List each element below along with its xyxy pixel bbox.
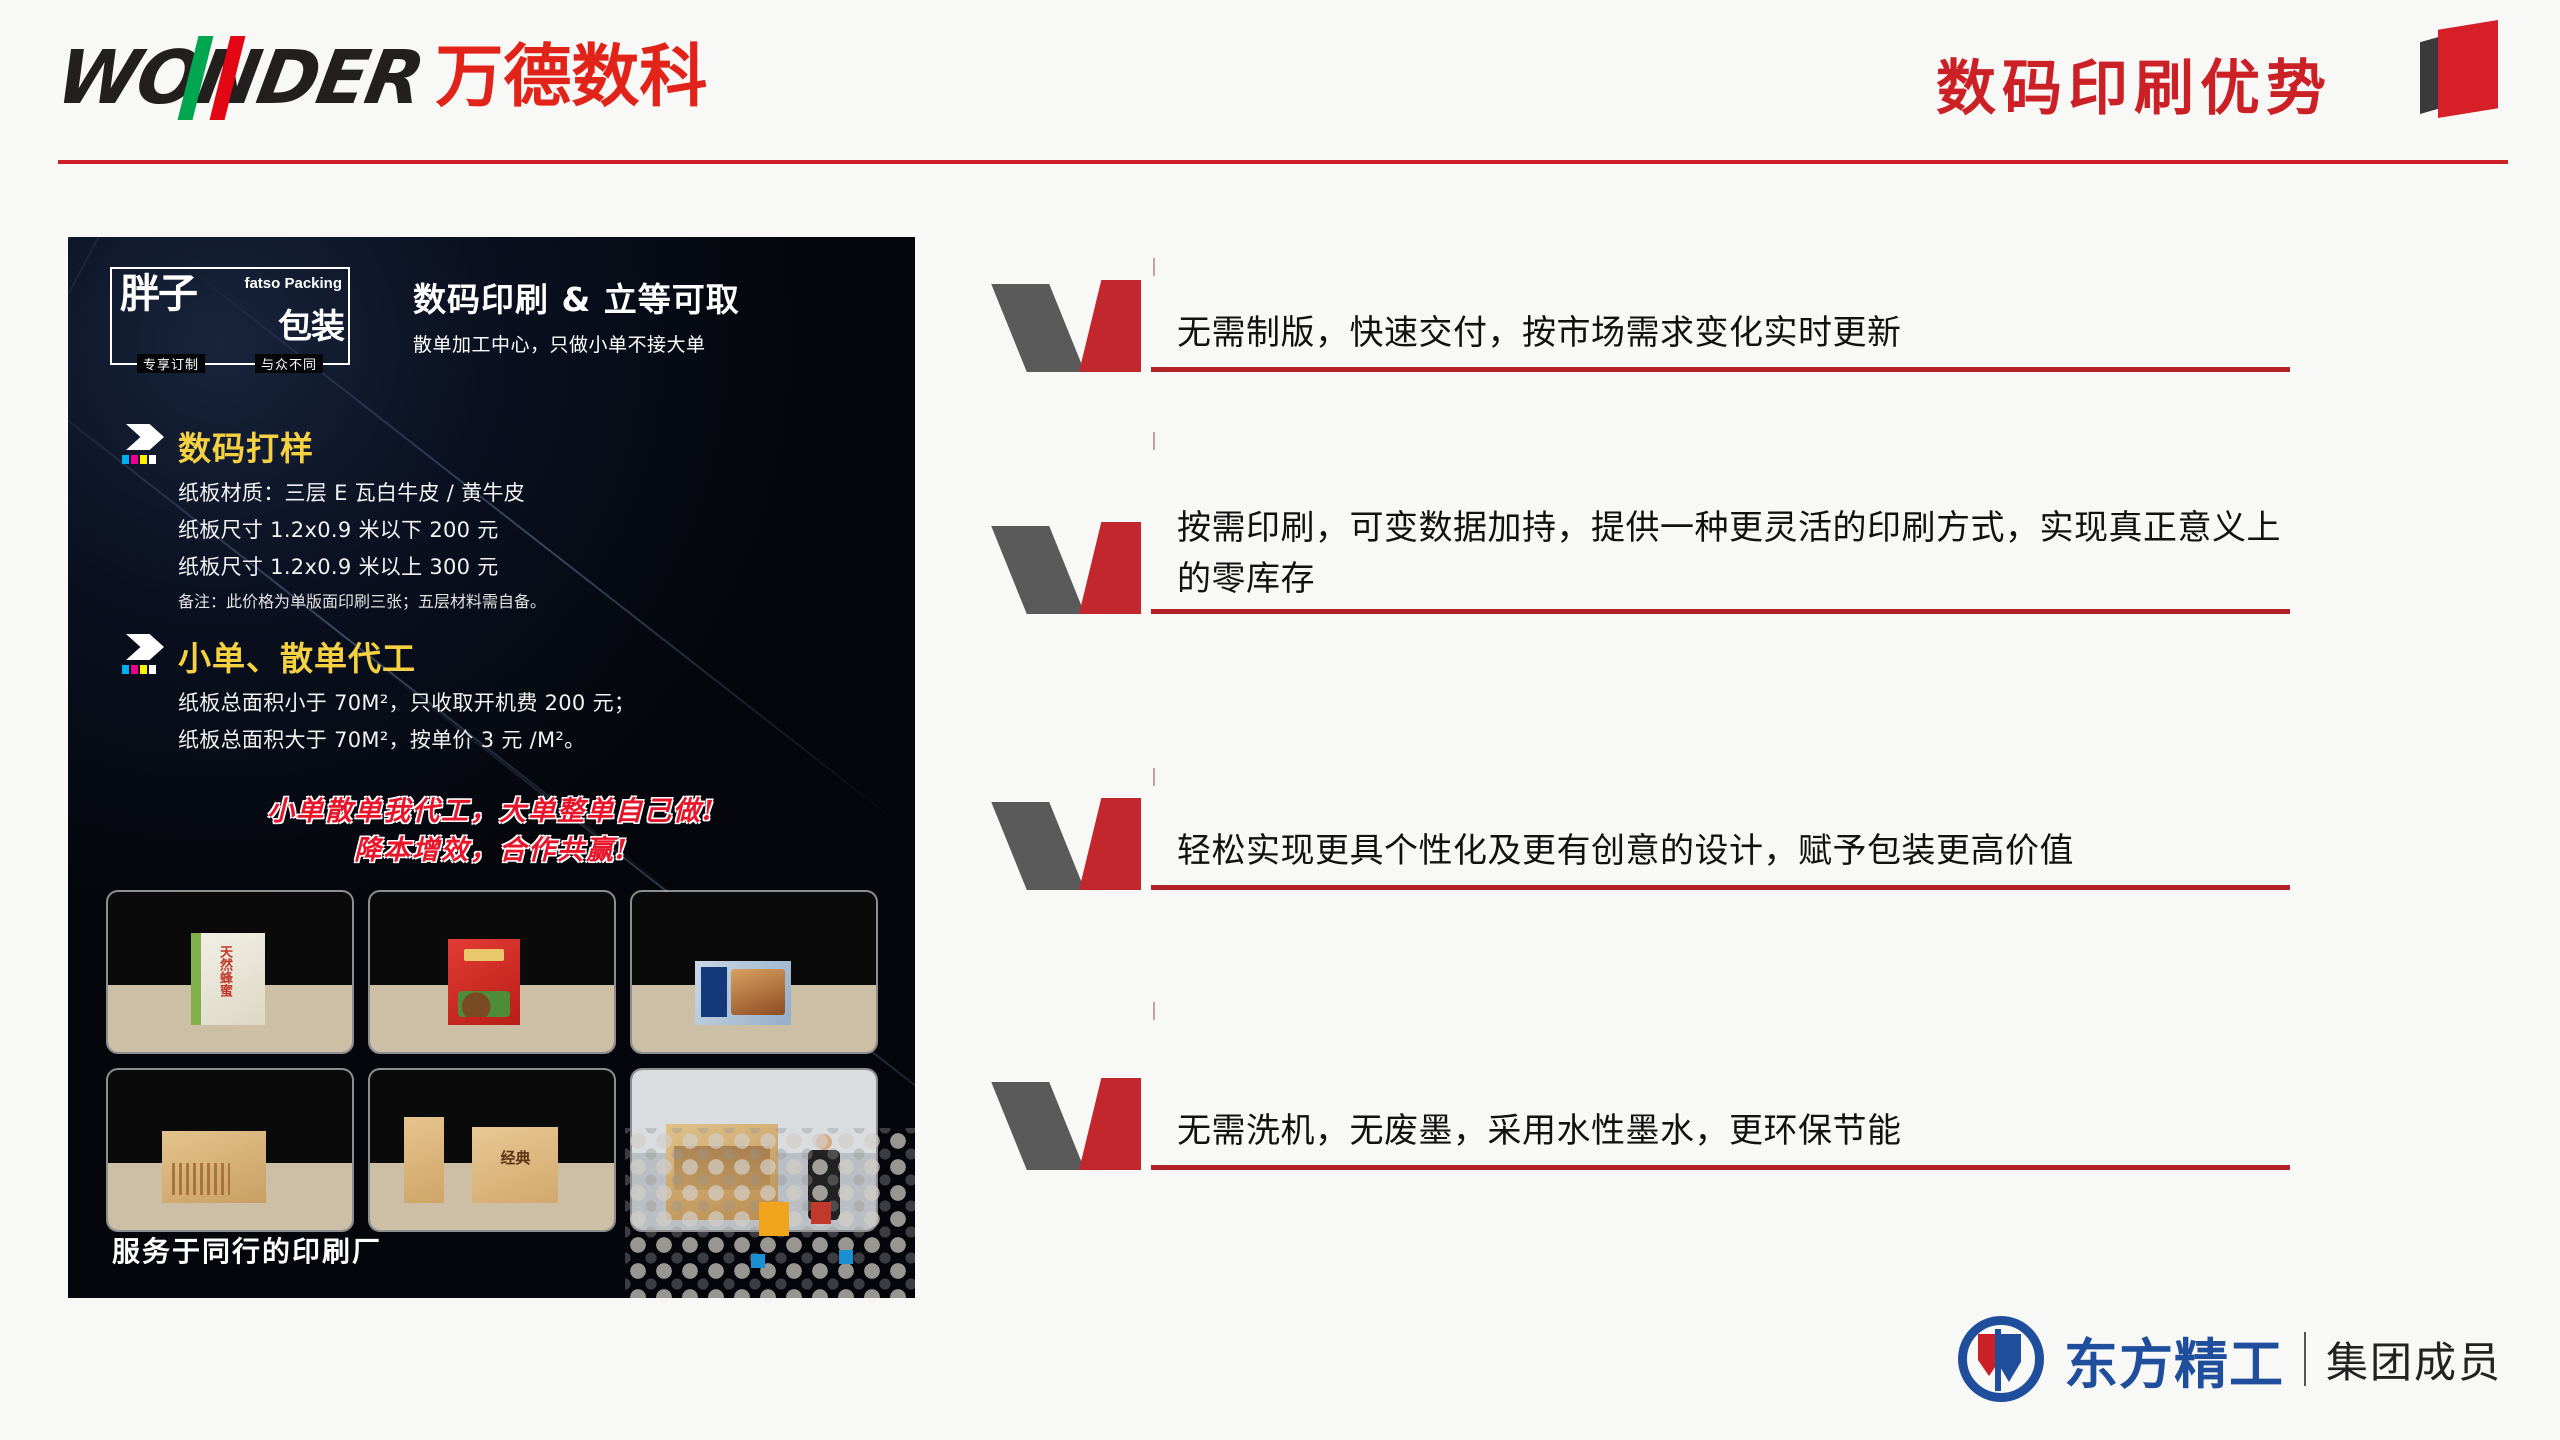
brand-separator <box>2304 1332 2306 1386</box>
bullet-underline-1 <box>1151 367 2290 372</box>
product-photo <box>108 1070 352 1230</box>
marker-gray-shape <box>991 1082 1085 1170</box>
advantage-item-3[interactable]: 轻松实现更具个性化及更有创意的设计，赋予包装更高价值 <box>1005 798 2295 890</box>
bullet-tick-4 <box>1153 1002 1155 1020</box>
cmyk-dot-cyan <box>122 455 129 464</box>
bullet-tick-1 <box>1153 258 1155 276</box>
header-divider <box>58 160 2508 164</box>
cmyk-dot-magenta <box>131 455 138 464</box>
fatso-tag-right: 与众不同 <box>255 354 323 373</box>
panel-slogan-line-2: 降本增效，合作共赢! <box>68 831 915 870</box>
book-page-shape <box>2438 20 2498 118</box>
cmyk-dot-magenta-2 <box>131 665 138 674</box>
classic-box-label: 经典 <box>500 1147 530 1168</box>
bullet-underline-4 <box>1151 1165 2290 1170</box>
marker-red-shape <box>1079 522 1141 614</box>
arrow-bullet-icon-2 <box>120 634 168 674</box>
panel-footer-text: 服务于同行的印刷厂 <box>112 1230 382 1270</box>
panel-section-2-title: 小单、散单代工 <box>178 632 635 680</box>
advantage-text-3: 轻松实现更具个性化及更有创意的设计，赋予包装更高价值 <box>1177 826 2297 876</box>
advantage-text-1: 无需制版，快速交付，按市场需求变化实时更新 <box>1177 308 2297 358</box>
cmyk-dot-white-2 <box>149 665 156 674</box>
halftone-accent-blue-1 <box>751 1254 765 1268</box>
group-brand-footer: 东方精工 集团成员 <box>1958 1316 2502 1402</box>
panel-subheadline: 散单加工中心，只做小单不接大单 <box>413 330 740 357</box>
product-photo: 天然蜂蜜 <box>108 892 352 1052</box>
bullet-marker-4 <box>1005 1078 1185 1170</box>
panel-section-1-line-3: 纸板尺寸 1.2x0.9 米以上 300 元 <box>178 551 546 581</box>
red-box-gold-label <box>464 949 504 961</box>
fatso-packing-logo: 胖子 fatso Packing 包装 专享订制 与众不同 <box>110 267 350 365</box>
blue-box-food-photo <box>731 969 785 1015</box>
marker-gray-shape <box>991 526 1085 614</box>
kraft-handle-box <box>162 1131 266 1203</box>
advantage-item-1[interactable]: 无需制版，快速交付，按市场需求变化实时更新 <box>1005 280 2295 372</box>
company-logo: WONDER 万德数科 <box>58 38 707 118</box>
product-photo: 经典 <box>370 1070 614 1230</box>
cmyk-dot-yellow <box>140 455 147 464</box>
halftone-accent-red <box>811 1202 831 1224</box>
logo-wordmark-cn: 万德数科 <box>435 44 707 112</box>
panel-section-2: 小单、散单代工 纸板总面积小于 70M²，只收取开机费 200 元； 纸板总面积… <box>178 632 635 754</box>
halftone-accent-orange <box>759 1202 789 1236</box>
arrow-bullet-icon <box>120 424 168 464</box>
product-photo <box>632 892 876 1052</box>
marker-red-shape <box>1079 280 1141 372</box>
advantage-text-4: 无需洗机，无废墨，采用水性墨水，更环保节能 <box>1177 1106 2297 1156</box>
panel-section-1-line-2: 纸板尺寸 1.2x0.9 米以下 200 元 <box>178 514 546 544</box>
product-photo <box>370 892 614 1052</box>
fatso-logo-main: 胖子 <box>120 273 196 315</box>
panel-headline-block: 数码印刷 & 立等可取 散单加工中心，只做小单不接大单 <box>413 273 740 357</box>
bullet-underline-2 <box>1151 609 2290 614</box>
cmyk-dot-yellow-2 <box>140 665 147 674</box>
bullet-tick-3 <box>1153 768 1155 786</box>
bullet-marker-2 <box>1005 522 1185 614</box>
panel-slogan: 小单散单我代工，大单整单自己做! 降本增效，合作共赢! <box>68 792 915 870</box>
panel-slogan-line-1: 小单散单我代工，大单整单自己做! <box>68 792 915 831</box>
fatso-logo-en: fatso Packing <box>244 275 342 292</box>
slide: WONDER 万德数科 数码印刷优势 胖子 fatso Packing 包装 专… <box>0 0 2560 1440</box>
book-corner-icon <box>2420 8 2510 114</box>
bullet-underline-3 <box>1151 885 2290 890</box>
marker-gray-shape <box>991 802 1085 890</box>
arrow-chevron-shape <box>126 424 164 450</box>
panel-headline: 数码印刷 & 立等可取 <box>413 273 740 321</box>
bullet-tick-2 <box>1153 432 1155 450</box>
panel-section-1-line-1: 纸板材质：三层 E 瓦白牛皮 / 黄牛皮 <box>178 477 546 507</box>
group-brand-name: 东方精工 <box>2064 1320 2284 1399</box>
cmyk-dot-white <box>149 455 156 464</box>
advantages-list: 无需制版，快速交付，按市场需求变化实时更新 按需印刷，可变数据加持，提供一种更灵… <box>1005 280 2295 1170</box>
advantage-text-2: 按需印刷，可变数据加持，提供一种更灵活的印刷方式，实现真正意义上的零库存 <box>1177 503 2297 604</box>
cmyk-dot-cyan-2 <box>122 665 129 674</box>
fatso-logo-taglines: 专享订制 与众不同 <box>112 352 348 374</box>
bullet-marker-3 <box>1005 798 1185 890</box>
advantage-item-2[interactable]: 按需印刷，可变数据加持，提供一种更灵活的印刷方式，实现真正意义上的零库存 <box>1005 522 2295 614</box>
marker-gray-shape <box>991 284 1085 372</box>
panel-section-1-title: 数码打样 <box>178 422 546 470</box>
marker-red-shape <box>1079 1078 1141 1170</box>
panel-section-2-line-1: 纸板总面积小于 70M²，只收取开机费 200 元； <box>178 687 635 717</box>
honey-gift-box: 天然蜂蜜 <box>191 933 265 1025</box>
group-member-label: 集团成员 <box>2326 1329 2502 1390</box>
panel-section-1-note: 备注：此价格为单版面印刷三张；五层材料需自备。 <box>178 588 546 612</box>
fatso-logo-cn2: 包装 <box>278 299 344 348</box>
advantage-item-4[interactable]: 无需洗机，无废墨，采用水性墨水，更环保节能 <box>1005 1078 2295 1170</box>
panel-section-1: 数码打样 纸板材质：三层 E 瓦白牛皮 / 黄牛皮 纸板尺寸 1.2x0.9 米… <box>178 422 546 612</box>
panel-section-2-line-2: 纸板总面积大于 70M²，按单价 3 元 /M²。 <box>178 724 635 754</box>
halftone-accent-blue-2 <box>839 1250 853 1264</box>
blue-box-label <box>701 967 727 1017</box>
red-box-food-art <box>458 991 510 1017</box>
bullet-marker-1 <box>1005 280 1185 372</box>
fatso-tag-left: 专享订制 <box>137 354 205 373</box>
kraft-box-art <box>172 1163 230 1195</box>
honey-box-label: 天然蜂蜜 <box>215 945 234 997</box>
page-title: 数码印刷优势 <box>1936 40 2332 127</box>
arrow-chevron-shape-2 <box>126 634 164 660</box>
logo-vertical-bar <box>1995 1329 2001 1391</box>
classic-kraft-box-large: 经典 <box>472 1127 558 1203</box>
beef-pie-carton <box>695 961 791 1025</box>
classic-kraft-box-small <box>404 1117 444 1203</box>
marker-red-shape <box>1079 798 1141 890</box>
promo-panel-image: 胖子 fatso Packing 包装 专享订制 与众不同 数码印刷 & 立等可… <box>68 237 915 1298</box>
red-chicken-box <box>448 939 520 1025</box>
dongfang-logo-icon <box>1958 1316 2044 1402</box>
